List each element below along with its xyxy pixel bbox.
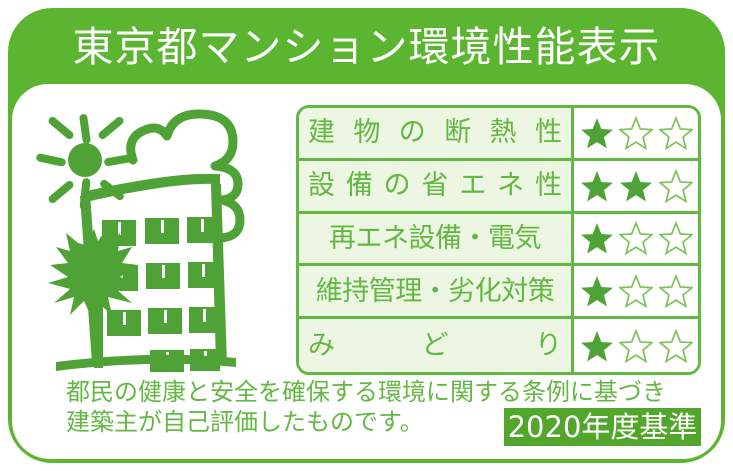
table-row: みどり bbox=[299, 319, 698, 372]
star-empty-icon bbox=[619, 329, 653, 363]
title-band: 東京都マンション環境性能表示 bbox=[8, 8, 725, 86]
star-empty-icon bbox=[619, 221, 653, 255]
footer: 都民の健康と安全を確保する環境に関する条例に基づき 建築主が自己評価したものです… bbox=[12, 377, 721, 459]
table-row: 設備の省エネ性 bbox=[299, 161, 698, 214]
rating-label-greenery: みどり bbox=[299, 319, 574, 372]
rating-stars-maintenance bbox=[574, 266, 698, 316]
star-filled-icon bbox=[619, 169, 653, 203]
star-empty-icon bbox=[659, 116, 693, 150]
rating-label-energy-saving: 設備の省エネ性 bbox=[299, 161, 574, 211]
star-filled-icon bbox=[580, 329, 614, 363]
table-row: 再エネ設備・電気 bbox=[299, 214, 698, 267]
star-filled-icon bbox=[580, 169, 614, 203]
page-title: 東京都マンション環境性能表示 bbox=[73, 27, 661, 68]
rating-stars-insulation bbox=[574, 108, 698, 158]
rating-stars-energy-saving bbox=[574, 161, 698, 211]
star-empty-icon bbox=[659, 329, 693, 363]
rating-stars-greenery bbox=[574, 319, 698, 372]
standard-year-badge: 2020年度基準 bbox=[504, 408, 701, 446]
star-empty-icon bbox=[659, 221, 693, 255]
star-empty-icon bbox=[619, 116, 653, 150]
rating-label-renewable-energy: 再エネ設備・電気 bbox=[299, 214, 574, 264]
rating-label-insulation: 建物の断熱性 bbox=[299, 108, 574, 158]
eco-apartment-illustration bbox=[28, 100, 296, 378]
star-filled-icon bbox=[580, 221, 614, 255]
inner-panel: 建物の断熱性 設備の省エネ性 bbox=[12, 84, 721, 459]
environmental-performance-label: 東京都マンション環境性能表示 bbox=[8, 8, 725, 463]
star-filled-icon bbox=[580, 116, 614, 150]
rating-stars-renewable-energy bbox=[574, 214, 698, 264]
star-filled-icon bbox=[580, 274, 614, 308]
table-row: 建物の断熱性 bbox=[299, 108, 698, 161]
star-empty-icon bbox=[659, 274, 693, 308]
star-empty-icon bbox=[659, 169, 693, 203]
table-row: 維持管理・劣化対策 bbox=[299, 266, 698, 319]
star-empty-icon bbox=[619, 274, 653, 308]
ratings-table: 建物の断熱性 設備の省エネ性 bbox=[296, 105, 701, 375]
rating-label-maintenance: 維持管理・劣化対策 bbox=[299, 266, 574, 316]
